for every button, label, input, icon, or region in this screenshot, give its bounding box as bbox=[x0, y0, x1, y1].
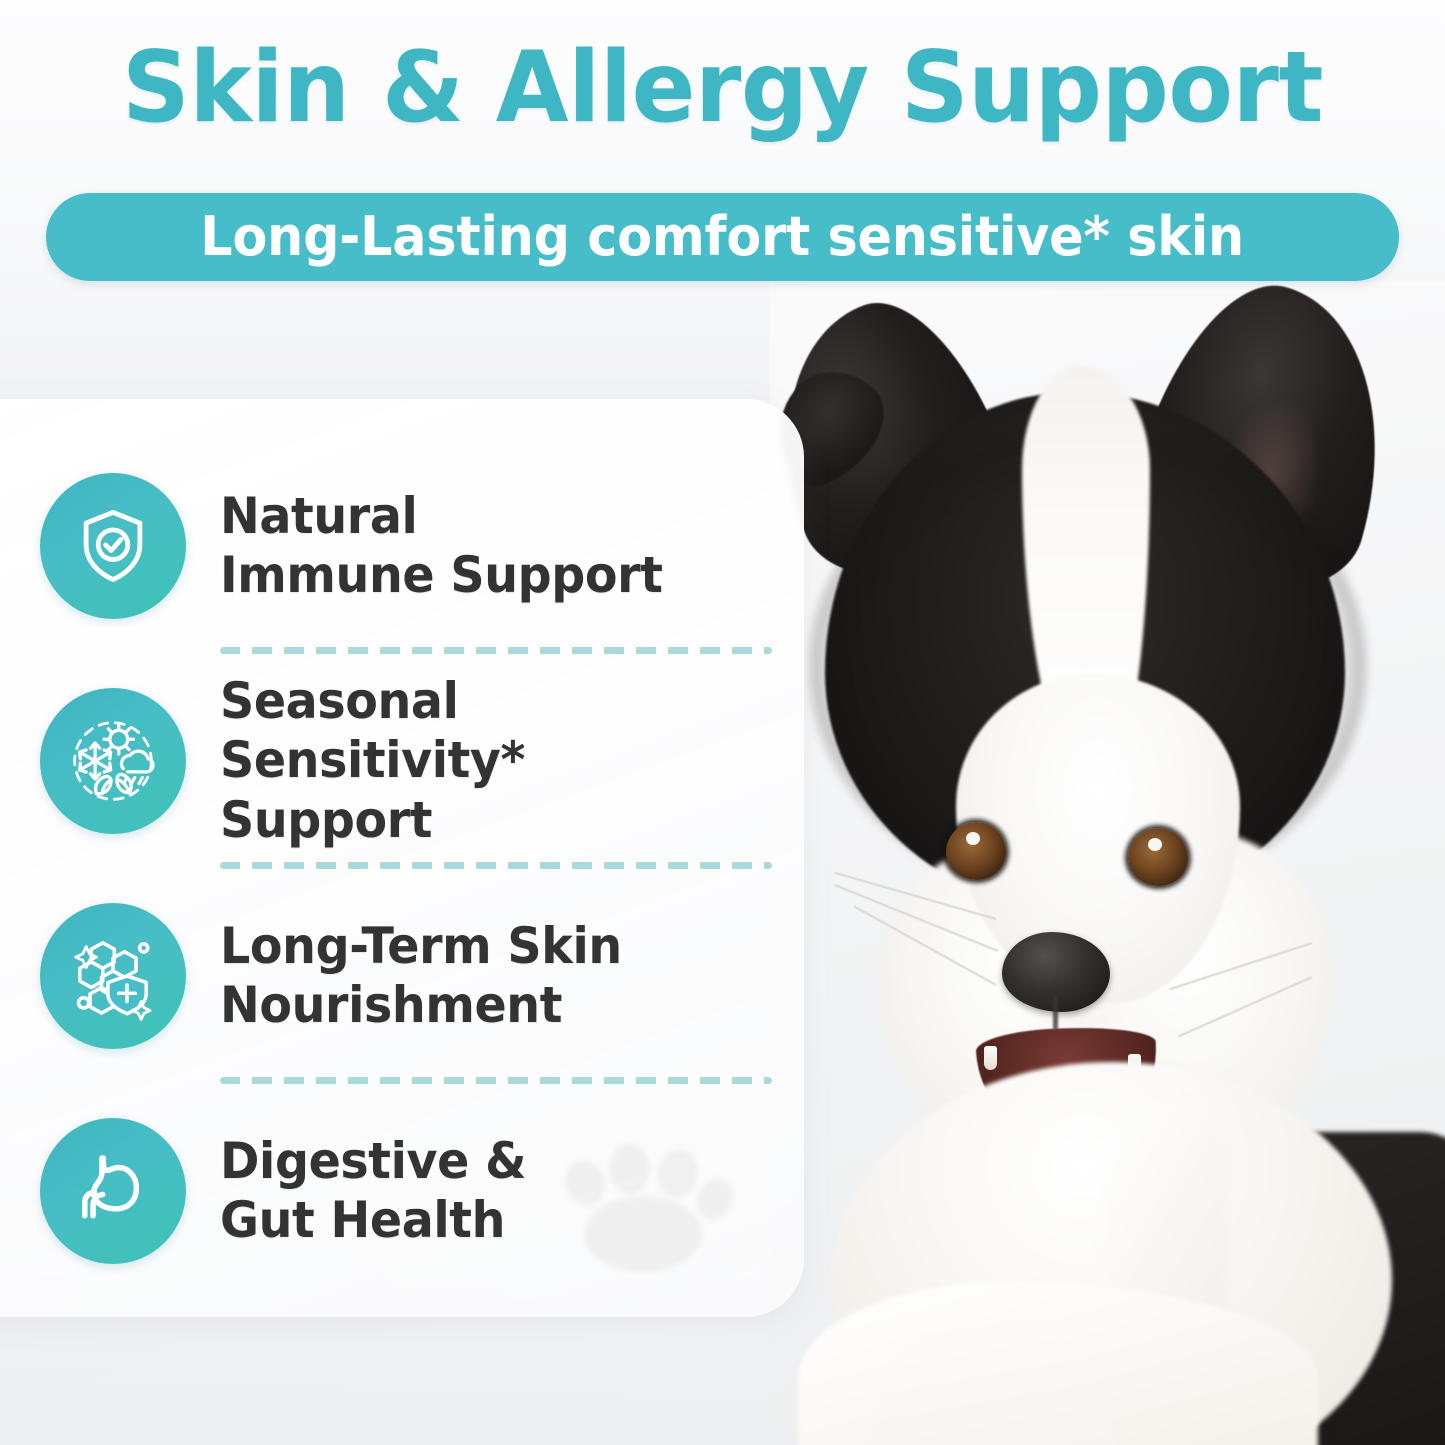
dog-left-fang bbox=[984, 1046, 997, 1070]
page-title: Skin & Allergy Support bbox=[29, 34, 1416, 144]
cell-shield-icon bbox=[40, 903, 186, 1049]
feature-label: Seasonal Sensitivity* Support bbox=[220, 672, 752, 851]
dog-right-eye bbox=[1128, 828, 1188, 886]
dog-left-eye-glint bbox=[966, 832, 980, 845]
feature-item-seasonal-sensitivity-support[interactable]: Seasonal Sensitivity* Support bbox=[40, 676, 780, 846]
feature-item-digestive-gut-health[interactable]: Digestive & Gut Health bbox=[40, 1106, 780, 1276]
feature-label: Long-Term Skin Nourishment bbox=[220, 917, 622, 1036]
dog-philtrum bbox=[1053, 996, 1058, 1030]
feature-divider bbox=[220, 1077, 772, 1084]
dog-photo bbox=[770, 282, 1445, 1445]
subtitle-text: Long-Lasting comfort sensitive* skin bbox=[201, 210, 1245, 264]
shield-check-icon bbox=[40, 473, 186, 619]
feature-label: Natural Immune Support bbox=[220, 487, 663, 606]
feature-label: Digestive & Gut Health bbox=[220, 1132, 526, 1251]
product-feature-poster: Skin & Allergy Support Long-Lasting comf… bbox=[0, 0, 1445, 1445]
dog-illustration bbox=[770, 282, 1445, 1445]
feature-list: Natural Immune Support bbox=[0, 399, 800, 1317]
feature-divider bbox=[220, 647, 772, 654]
feature-item-long-term-skin-nourishment[interactable]: Long-Term Skin Nourishment bbox=[40, 891, 780, 1061]
subtitle-banner: Long-Lasting comfort sensitive* skin bbox=[46, 193, 1399, 281]
dog-left-eye bbox=[946, 822, 1006, 880]
stomach-icon bbox=[40, 1118, 186, 1264]
dog-right-eye-glint bbox=[1148, 838, 1162, 851]
four-seasons-icon bbox=[40, 688, 186, 834]
feature-item-natural-immune-support[interactable]: Natural Immune Support bbox=[40, 461, 780, 631]
feature-divider bbox=[220, 862, 772, 869]
